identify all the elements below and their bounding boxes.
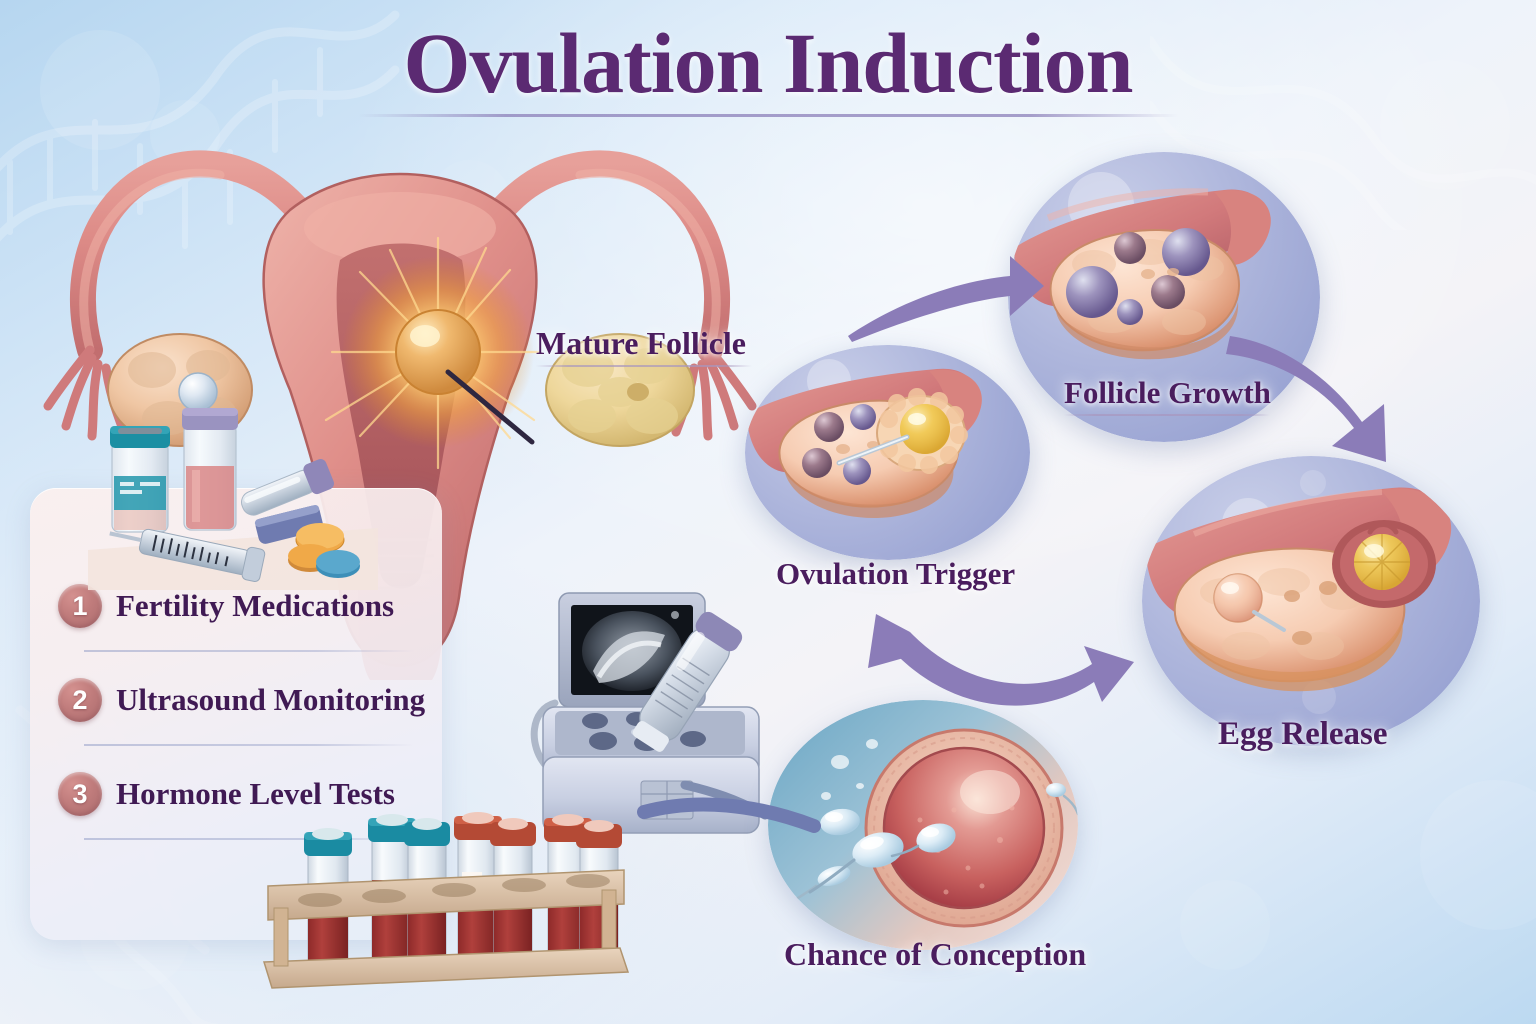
label-chance-of-conception: Chance of Conception bbox=[784, 936, 1086, 973]
fertility-medications-illustration bbox=[88, 400, 378, 590]
scene-ovulation-trigger[interactable] bbox=[745, 345, 1030, 560]
label-mature-follicle-text: Mature Follicle bbox=[536, 325, 746, 361]
label-ovulation-trigger: Ovulation Trigger bbox=[776, 556, 1015, 592]
label-ovulation-trigger-text: Ovulation Trigger bbox=[776, 556, 1015, 591]
label-follicle-growth-text: Follicle Growth bbox=[1064, 375, 1271, 410]
scene-chance-of-conception[interactable] bbox=[768, 700, 1078, 950]
scene-egg-release[interactable] bbox=[1142, 456, 1480, 746]
step-item-1[interactable]: 1 Fertility Medications bbox=[58, 584, 394, 628]
step-number-badge: 2 bbox=[58, 678, 102, 722]
bokeh-decor bbox=[1180, 880, 1270, 970]
step-label: Hormone Level Tests bbox=[116, 776, 395, 812]
bokeh-decor bbox=[1420, 780, 1536, 930]
egg-release-drawing bbox=[1142, 456, 1480, 746]
title-block: Ovulation Induction bbox=[0, 18, 1536, 117]
step-divider bbox=[84, 744, 414, 746]
step-divider bbox=[84, 650, 414, 652]
label-underline bbox=[536, 365, 752, 367]
step-item-3[interactable]: 3 Hormone Level Tests bbox=[58, 772, 395, 816]
label-mature-follicle: Mature Follicle bbox=[536, 325, 752, 367]
label-egg-release-text: Egg Release bbox=[1218, 716, 1388, 752]
step-number-badge: 3 bbox=[58, 772, 102, 816]
label-follicle-growth: Follicle Growth bbox=[1064, 375, 1271, 416]
blood-sample-tubes-illustration bbox=[262, 812, 630, 1002]
step-label: Fertility Medications bbox=[116, 588, 394, 624]
infographic-canvas: Ovulation Induction bbox=[0, 0, 1536, 1024]
label-egg-release: Egg Release bbox=[1218, 716, 1388, 753]
step-item-2[interactable]: 2 Ultrasound Monitoring bbox=[58, 678, 425, 722]
step-number-badge: 1 bbox=[58, 584, 102, 628]
label-underline bbox=[1064, 414, 1270, 416]
page-title: Ovulation Induction bbox=[0, 18, 1536, 108]
ovulation-trigger-drawing bbox=[745, 345, 1030, 560]
title-divider bbox=[358, 114, 1178, 117]
label-chance-of-conception-text: Chance of Conception bbox=[784, 936, 1086, 972]
step-label: Ultrasound Monitoring bbox=[116, 682, 425, 718]
